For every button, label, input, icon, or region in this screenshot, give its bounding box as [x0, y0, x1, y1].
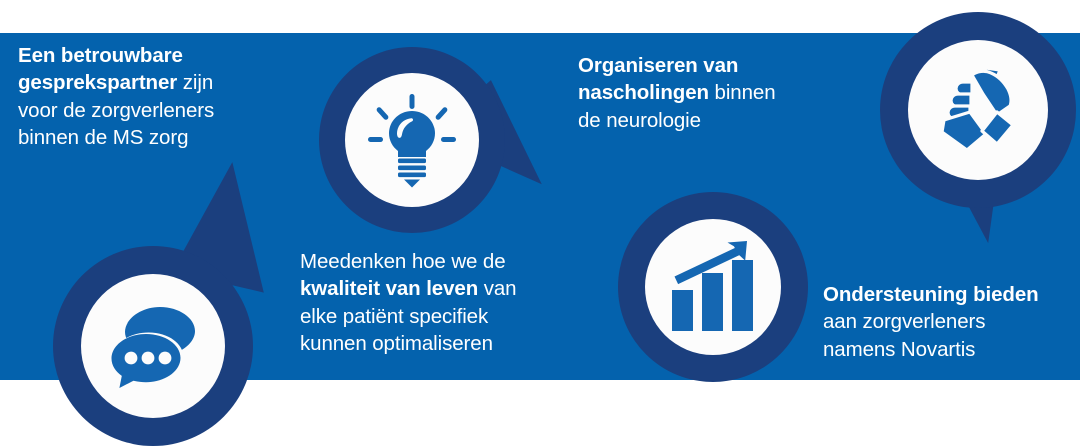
text-block-nascholingen: Organiseren van nascholingen binnen de n… — [578, 52, 828, 134]
bubble-chat-bubbles — [53, 246, 253, 446]
bubble-inner-circle — [645, 219, 781, 355]
text-lead-kwaliteit: kwaliteit van leven — [300, 277, 478, 300]
text-block-partner: Een betrouwbare gesprekspartner zijn voo… — [18, 42, 270, 151]
bar-chart-growth-icon — [666, 241, 760, 333]
bubble-handshake — [880, 12, 1076, 208]
bubble-inner-circle — [345, 73, 479, 207]
bubble-inner-circle — [908, 40, 1048, 180]
bubble-inner-circle — [81, 274, 225, 418]
text-lead-ondersteuning: Ondersteuning bieden — [823, 283, 1039, 306]
lightbulb-icon — [366, 92, 458, 188]
bubble-bar-chart — [618, 192, 808, 382]
chat-bubbles-icon — [105, 303, 201, 389]
handshake-icon — [930, 64, 1026, 156]
text-block-ondersteuning: Ondersteuning bieden aan zorgverleners n… — [823, 281, 1075, 363]
infographic-canvas: Een betrouwbare gesprekspartner zijn voo… — [0, 0, 1080, 448]
text-rest-ondersteuning: aan zorgverleners namens Novartis — [823, 310, 985, 360]
text-lead-partner: Een betrouwbare gesprekspartner — [18, 44, 183, 94]
bubble-lightbulb — [319, 47, 505, 233]
text-pre-kwaliteit: Meedenken hoe we de — [300, 250, 506, 273]
text-block-kwaliteit: Meedenken hoe we de kwaliteit van leven … — [300, 248, 550, 357]
